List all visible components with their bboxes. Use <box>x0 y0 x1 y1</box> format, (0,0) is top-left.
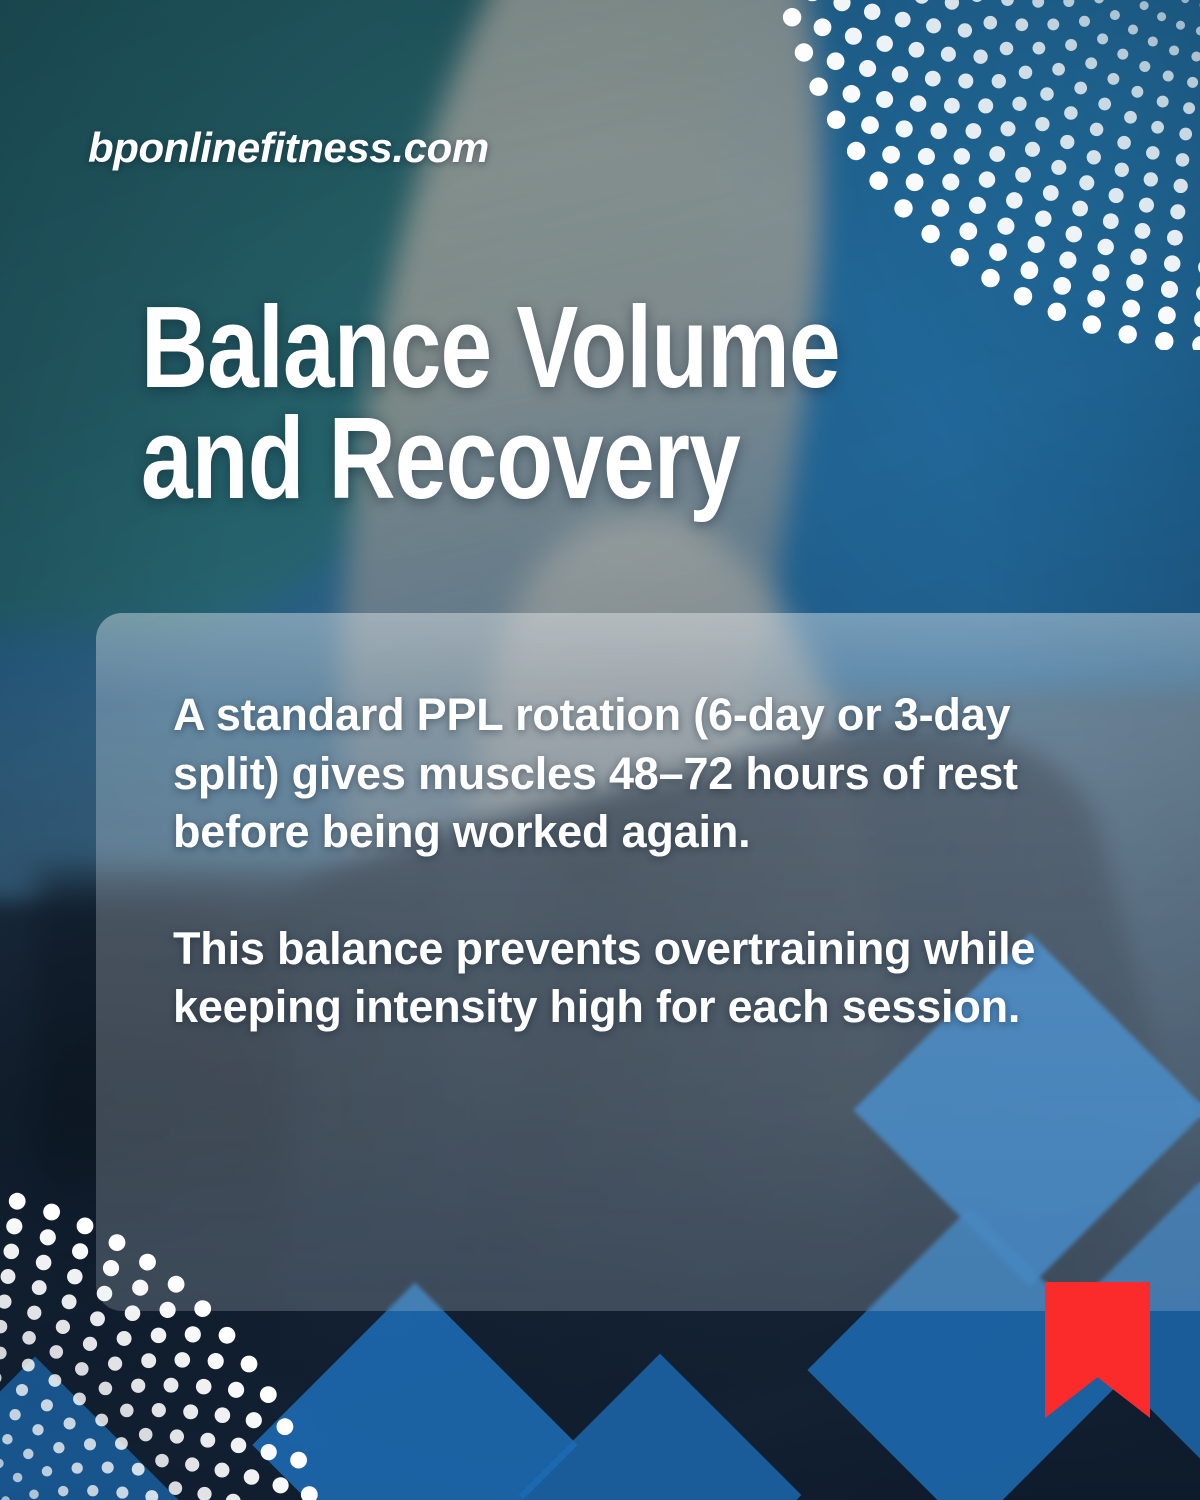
page-title: Balance Volume and Recovery <box>141 292 909 515</box>
body-paragraph-2: This balance prevents overtraining while… <box>173 920 1113 1037</box>
body-paragraph-1: A standard PPL rotation (6-day or 3-day … <box>173 686 1113 862</box>
website-url: bponlinefitness.com <box>88 124 489 172</box>
poster-canvas: bponlinefitness.com Balance Volume and R… <box>0 0 1200 1500</box>
body-copy: A standard PPL rotation (6-day or 3-day … <box>173 686 1113 1037</box>
